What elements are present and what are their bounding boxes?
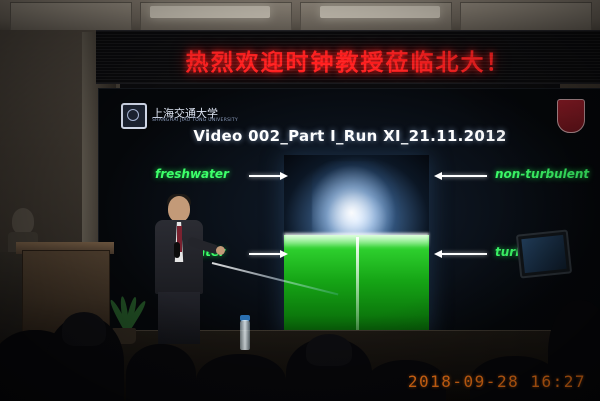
ceiling-light [320,6,440,18]
ceiling [0,0,600,34]
presenter-legs [158,292,200,344]
presenter-hand [216,246,225,255]
water-bottle [240,320,250,350]
stage-monitor [516,229,572,278]
camera-timestamp: 2018-09-28 16:27 [408,372,586,391]
ceiling-panel [10,2,132,32]
annotation-arrow-freshwater [249,175,281,177]
photograph-scene: 热烈欢迎时钟教授莅临北大！ 上海交通大学 SHANGHAI JIAO TONG … [0,0,600,401]
video-splash-plume [312,161,400,235]
university-emblem-icon [121,103,147,129]
presenter [150,196,220,346]
led-welcome-banner: 热烈欢迎时钟教授莅临北大！ [96,30,600,84]
led-banner-text: 热烈欢迎时钟教授莅临北大！ [96,43,600,77]
audience-head [62,312,106,346]
video-upper-region [284,155,429,235]
video-jet-stream [356,237,359,333]
handheld-microphone [174,242,180,258]
bust-head [12,208,34,234]
university-name-block: 上海交通大学 SHANGHAI JIAO TONG UNIVERSITY [152,108,238,124]
annotation-arrow-saltwater [249,253,281,255]
ceiling-panel [460,2,592,32]
stage-monitor-screen [521,235,566,273]
annotation-freshwater: freshwater [155,167,229,181]
annotation-non-turbulent: non-turbulent [495,167,589,181]
experiment-video-frame [284,155,429,335]
ceiling-light [150,6,270,18]
audience-head [306,334,352,366]
university-subtitle: SHANGHAI JIAO TONG UNIVERSITY [152,119,238,124]
annotation-arrow-non-turbulent [441,175,487,177]
presenter-head [168,196,190,222]
slide-title: Video 002_Part I_Run XI_21.11.2012 [99,127,600,145]
university-logo: 上海交通大学 SHANGHAI JIAO TONG UNIVERSITY [121,103,238,129]
audience-silhouette [126,344,196,401]
audience-silhouette [196,354,286,401]
annotation-arrow-turbulent [441,253,487,255]
